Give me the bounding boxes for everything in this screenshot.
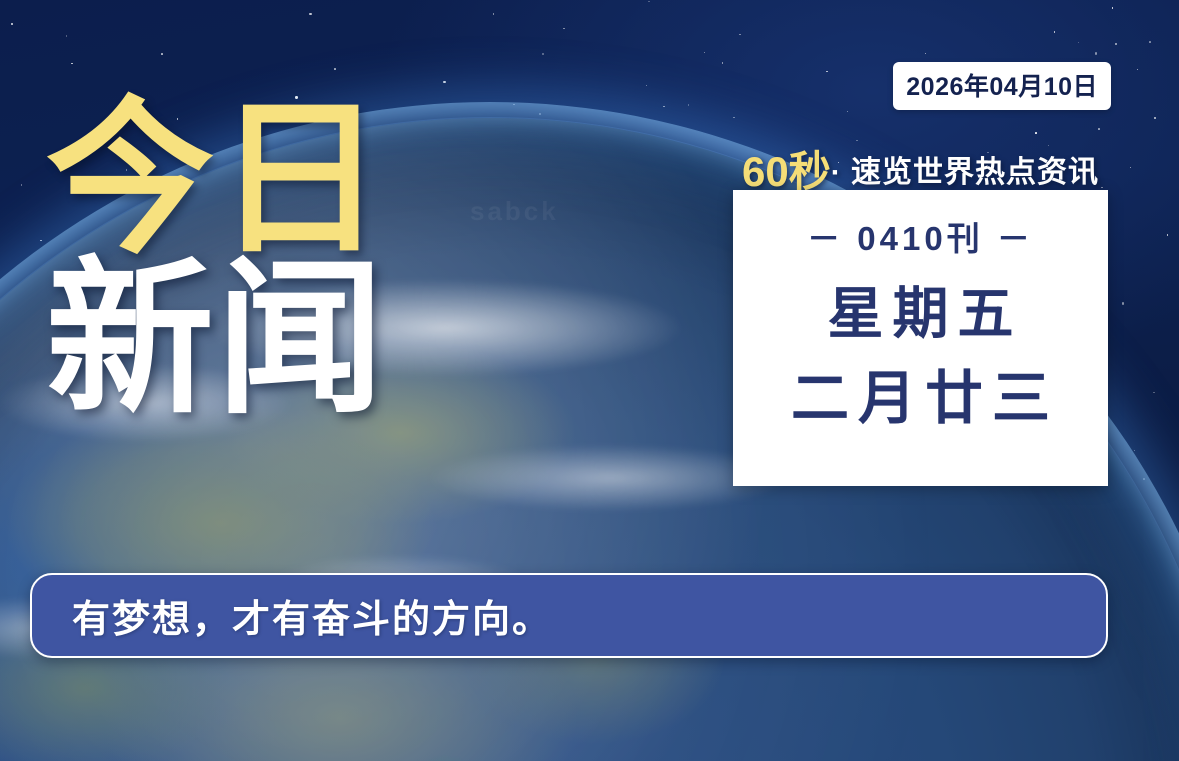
issue-number: － 0410刊 －: [807, 212, 1034, 260]
star: [11, 23, 13, 25]
star: [334, 68, 336, 70]
quote-bar: 有梦想，才有奋斗的方向。: [30, 573, 1108, 658]
star: [646, 85, 648, 87]
star: [71, 63, 73, 65]
star: [493, 13, 495, 15]
brand-title-line-1: 今日: [46, 96, 476, 262]
star: [739, 34, 741, 36]
star: [66, 35, 68, 37]
star: [847, 111, 849, 113]
lunar-date-label: 二月廿三: [782, 370, 1059, 428]
issue-card: － 0410刊 － 星期五 二月廿三: [733, 190, 1108, 486]
background-watermark: sabck: [470, 196, 559, 227]
star: [925, 53, 927, 55]
star: [1112, 7, 1114, 9]
star: [539, 113, 541, 115]
star: [1149, 41, 1151, 43]
star: [513, 104, 515, 106]
tagline-highlight: 60秒: [742, 148, 831, 195]
star: [722, 62, 724, 64]
brand-title-line-2: 新闻: [46, 256, 476, 422]
star: [1078, 42, 1080, 44]
tagline-rest: · 速览世界热点资讯: [831, 156, 1099, 189]
date-badge: 2026年04月10日: [893, 62, 1111, 110]
weekday-label: 星期五: [819, 286, 1023, 342]
star: [826, 71, 828, 73]
star: [648, 1, 650, 3]
quote-text: 有梦想，才有奋斗的方向。: [72, 588, 552, 643]
star: [309, 13, 311, 15]
poster-canvas: sabck 今日 新闻 2026年04月10日 60秒· 速览世界热点资讯 － …: [0, 0, 1179, 761]
brand-title: 今日 新闻: [46, 96, 476, 423]
star: [1054, 31, 1056, 33]
star: [663, 106, 665, 108]
star: [1115, 43, 1117, 45]
star: [542, 53, 544, 55]
star: [563, 28, 565, 30]
star: [443, 81, 445, 83]
star: [1095, 52, 1097, 54]
star: [688, 104, 690, 106]
star: [704, 52, 706, 54]
star: [1137, 69, 1139, 71]
star: [161, 53, 163, 55]
